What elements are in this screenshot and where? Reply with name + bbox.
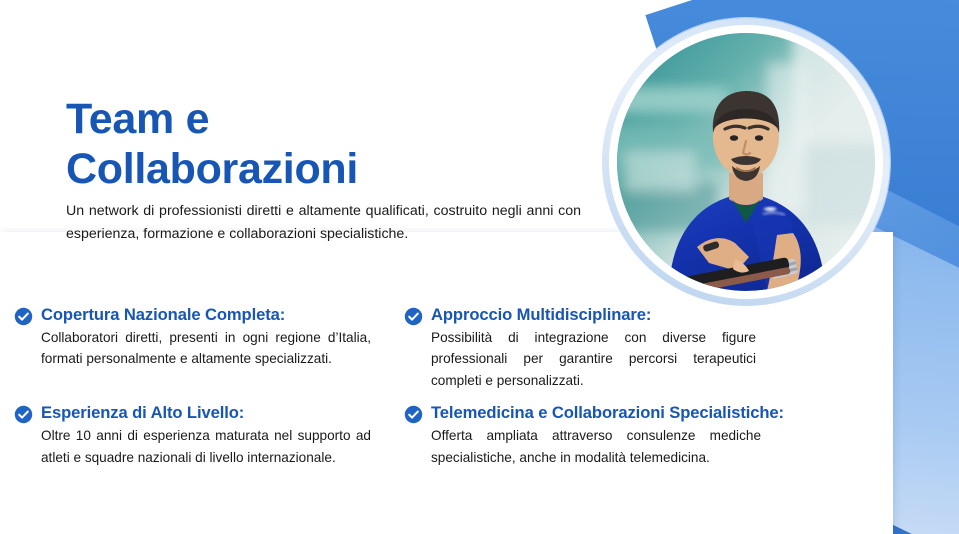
feature-body: Oltre 10 anni di esperienza maturata nel… [41,425,371,468]
feature-item-copertura-nazionale: Copertura Nazionale Completa: Collaborat… [14,305,396,391]
check-circle-icon [404,307,423,326]
intro-paragraph: Un network di professionisti diretti e a… [66,200,581,246]
feature-header: Telemedicina e Collaborazioni Specialist… [404,403,902,424]
feature-list: Copertura Nazionale Completa: Collaborat… [14,305,904,468]
check-circle-icon [404,405,423,424]
page-title: Team e Collaborazioni [66,95,536,195]
portrait-outer-ring [602,18,890,306]
feature-body: Collaboratori diretti, presenti in ogni … [41,327,371,370]
feature-body: Possibilità di integrazione con diverse … [431,327,756,391]
feature-title: Telemedicina e Collaborazioni Specialist… [431,403,784,424]
feature-header: Esperienza di Alto Livello: [14,403,396,424]
feature-item-esperienza-alto-livello: Esperienza di Alto Livello: Oltre 10 ann… [14,403,396,468]
check-circle-icon [14,307,33,326]
check-circle-icon [14,405,33,424]
feature-item-approccio-multidisciplinare: Approccio Multidisciplinare: Possibilità… [404,305,902,391]
feature-item-telemedicina: Telemedicina e Collaborazioni Specialist… [404,403,902,468]
feature-header: Copertura Nazionale Completa: [14,305,396,326]
feature-title: Copertura Nazionale Completa: [41,305,285,326]
feature-title: Esperienza di Alto Livello: [41,403,244,424]
page-title-line-2: Collaborazioni [66,145,536,195]
feature-title: Approccio Multidisciplinare: [431,305,651,326]
feature-header: Approccio Multidisciplinare: [404,305,902,326]
page-title-line-1: Team e [66,95,536,145]
feature-body: Offerta ampliata attraverso consulenze m… [431,425,761,468]
slide-canvas: Team e Collaborazioni Un network di prof… [0,0,959,534]
portrait-photo [617,33,875,291]
